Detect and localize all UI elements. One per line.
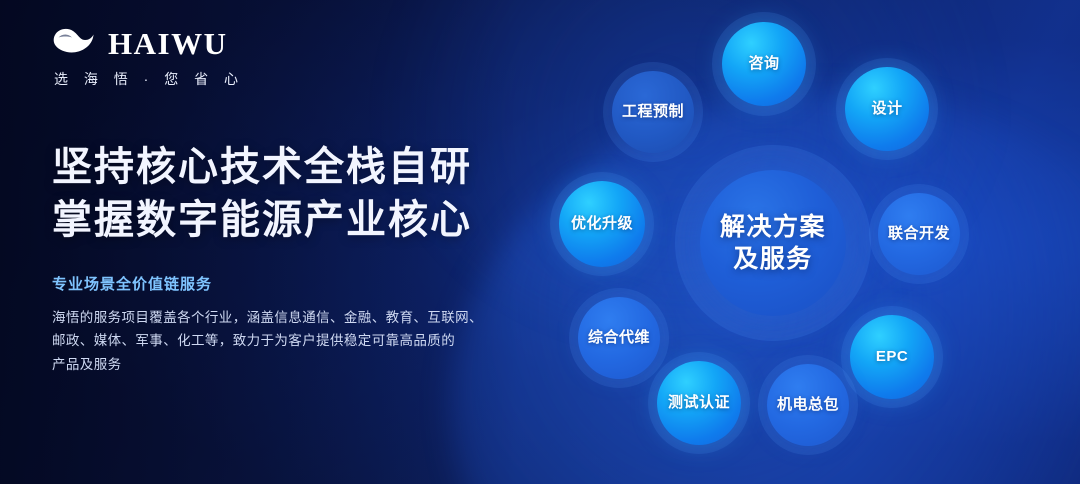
node-optimization-upgrade[interactable]: 优化升级 (559, 181, 645, 267)
node-mechanical-electrical-contracting[interactable]: 机电总包 (767, 364, 849, 446)
node-label-joint-dev: 联合开发 (888, 225, 950, 244)
node-epc[interactable]: EPC (850, 315, 934, 399)
node-label-maintenance: 综合代维 (588, 329, 650, 348)
promo-banner: HAIWU 选 海 悟 · 您 省 心 坚持核心技术全栈自研 掌握数字能源产业核… (0, 0, 1080, 484)
hub-solution-and-service[interactable]: 解决方案 及服务 (700, 170, 846, 316)
headline: 坚持核心技术全栈自研 掌握数字能源产业核心 (52, 141, 512, 247)
body-line-3: 产品及服务 (52, 353, 512, 377)
node-joint-development[interactable]: 联合开发 (878, 193, 960, 275)
node-integrated-maintenance[interactable]: 综合代维 (578, 297, 660, 379)
node-label-design: 设计 (871, 100, 902, 119)
service-wheel-diagram: 解决方案 及服务 咨询 设计 工程预制 联合开发 EPC (500, 0, 1080, 484)
node-engineering-prefab[interactable]: 工程预制 (612, 71, 694, 153)
body-copy: 海悟的服务项目覆盖各个行业，涵盖信息通信、金融、教育、互联网、 邮政、媒体、军事… (52, 306, 512, 377)
subtitle: 专业场景全价值链服务 (52, 273, 512, 294)
node-label-me-contract: 机电总包 (777, 396, 839, 415)
headline-line-2: 掌握数字能源产业核心 (52, 194, 512, 247)
hub-label-line-1: 解决方案 (720, 211, 826, 244)
node-testing-certification[interactable]: 测试认证 (657, 361, 741, 445)
node-label-testing: 测试认证 (668, 394, 730, 413)
brand-logo: HAIWU (52, 26, 512, 60)
left-content: HAIWU 选 海 悟 · 您 省 心 坚持核心技术全栈自研 掌握数字能源产业核… (52, 26, 512, 376)
wave-leaf-logo-icon (52, 26, 96, 60)
node-label-epc: EPC (876, 348, 908, 367)
node-label-optimization: 优化升级 (571, 215, 633, 234)
brand-wordmark: HAIWU (108, 28, 227, 59)
brand-tagline: 选 海 悟 · 您 省 心 (54, 69, 512, 89)
node-design[interactable]: 设计 (845, 67, 929, 151)
hub-label-line-2: 及服务 (720, 243, 826, 276)
node-label-consulting: 咨询 (748, 55, 779, 74)
hub-label: 解决方案 及服务 (720, 211, 826, 276)
body-line-1: 海悟的服务项目覆盖各个行业，涵盖信息通信、金融、教育、互联网、 (52, 306, 512, 330)
node-label-prefab: 工程预制 (622, 103, 684, 122)
body-line-2: 邮政、媒体、军事、化工等，致力于为客户提供稳定可靠高品质的 (52, 329, 512, 353)
headline-line-1: 坚持核心技术全栈自研 (52, 141, 512, 194)
node-consulting[interactable]: 咨询 (722, 22, 806, 106)
